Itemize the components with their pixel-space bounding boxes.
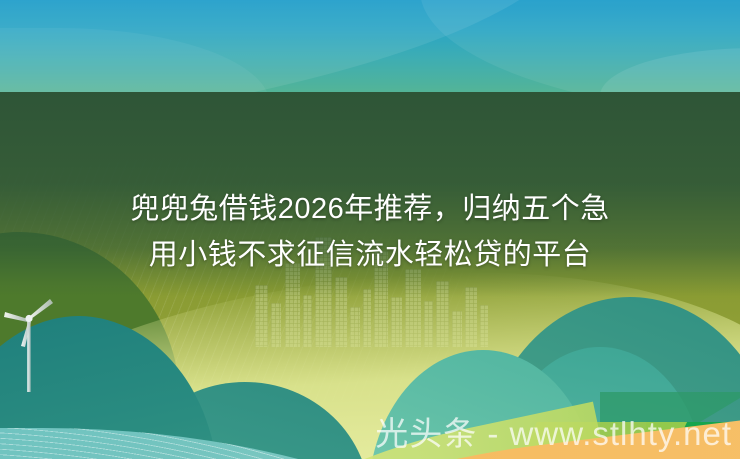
sky-background <box>0 0 740 92</box>
page-title: 兜兜兔借钱2026年推荐，归纳五个急用小钱不求征信流水轻松贷的平台 <box>0 186 740 278</box>
wind-turbine-icon <box>2 296 66 392</box>
page-title-line-1: 兜兜兔借钱2026年推荐，归纳五个急 <box>0 186 740 232</box>
page-title-line-2: 用小钱不求征信流水轻松贷的平台 <box>0 232 740 278</box>
site-watermark: 光头条 - www.stlhty.net <box>375 413 732 455</box>
banner-image: 兜兜兔借钱2026年推荐，归纳五个急用小钱不求征信流水轻松贷的平台 光头条 - … <box>0 0 740 459</box>
